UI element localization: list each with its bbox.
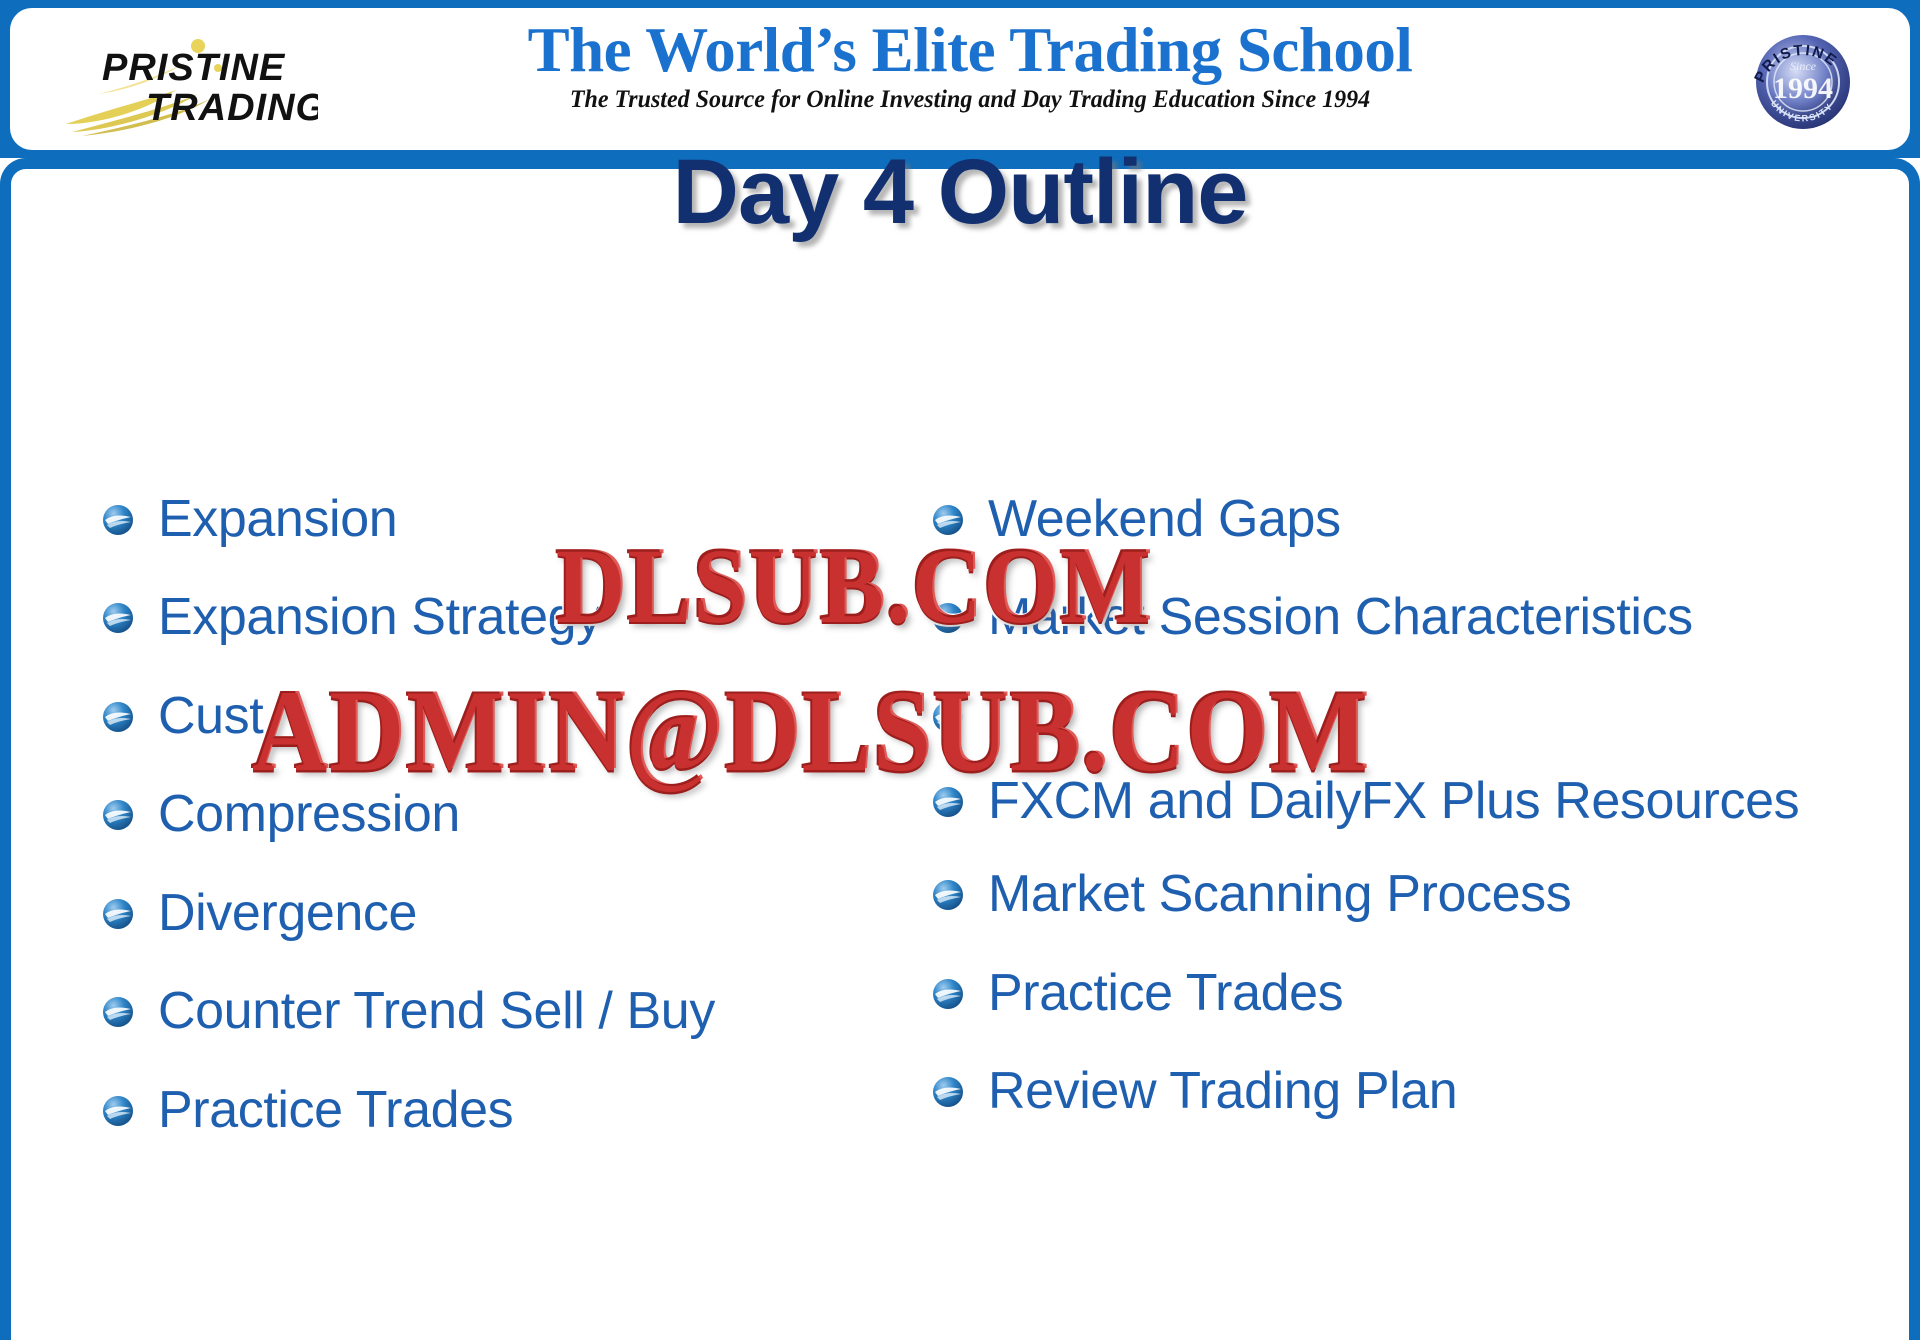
list-item[interactable]: Divergence bbox=[100, 882, 900, 945]
list-item-label: Divergence bbox=[158, 882, 417, 945]
list-item[interactable] bbox=[930, 685, 1920, 735]
globe-bullet-icon bbox=[930, 1074, 966, 1110]
list-item-label: Weekend Gaps bbox=[988, 488, 1341, 551]
list-item[interactable]: Compression bbox=[100, 783, 900, 846]
list-item-label: Review Trading Plan bbox=[988, 1060, 1457, 1123]
globe-bullet-icon bbox=[100, 600, 136, 636]
list-item[interactable]: Practice Trades bbox=[930, 962, 1920, 1025]
globe-bullet-icon bbox=[930, 502, 966, 538]
globe-bullet-icon bbox=[930, 699, 966, 735]
list-item[interactable]: Expansion bbox=[100, 488, 900, 551]
list-item[interactable]: Weekend Gaps bbox=[930, 488, 1920, 551]
outline-column-left: Expansion Expansion Strategy bbox=[0, 488, 900, 1177]
globe-bullet-icon bbox=[100, 502, 136, 538]
seal-since-text: Since bbox=[1790, 59, 1817, 73]
list-item[interactable]: Market Session Characteristics bbox=[930, 586, 1920, 649]
list-item-label: Market Session Characteristics bbox=[988, 586, 1693, 649]
header-inner: PRISTINE TRADING The World’s Elite Tradi… bbox=[10, 8, 1910, 150]
list-item-label: Compression bbox=[158, 783, 460, 846]
list-item[interactable]: Review Trading Plan bbox=[930, 1060, 1920, 1123]
globe-bullet-icon bbox=[930, 600, 966, 636]
logo-line-2: TRADING bbox=[146, 87, 318, 129]
globe-bullet-icon bbox=[100, 1093, 136, 1129]
pristine-university-seal: PRISTINE Since 1994 UNIVERSITY bbox=[1740, 18, 1866, 144]
globe-bullet-icon bbox=[930, 877, 966, 913]
list-item-label: Market Scanning Process bbox=[988, 863, 1571, 926]
list-item-label: Practice Trades bbox=[158, 1079, 513, 1142]
globe-bullet-icon bbox=[100, 699, 136, 735]
outline-columns: Expansion Expansion Strategy bbox=[0, 488, 1920, 1177]
globe-bullet-icon bbox=[100, 896, 136, 932]
seal-year: 1994 bbox=[1773, 72, 1833, 105]
globe-bullet-icon bbox=[930, 784, 966, 820]
list-item[interactable]: Counter Trend Sell / Buy bbox=[100, 980, 900, 1043]
globe-bullet-icon bbox=[930, 976, 966, 1012]
header-band: PRISTINE TRADING The World’s Elite Tradi… bbox=[0, 0, 1920, 158]
pristine-trading-logo: PRISTINE TRADING bbox=[58, 28, 318, 136]
page-title: Day 4 Outline bbox=[0, 140, 1920, 245]
list-item[interactable]: Practice Trades bbox=[100, 1079, 900, 1142]
outline-column-right: Weekend Gaps Market Session Characterist… bbox=[900, 488, 1920, 1159]
list-item[interactable]: FXCM and DailyFX Plus Resources bbox=[930, 770, 1920, 833]
list-item-label: Expansion Strategy bbox=[158, 586, 602, 649]
header-title: The World’s Elite Trading School bbox=[340, 18, 1600, 84]
header-subtitle: The Trusted Source for Online Investing … bbox=[365, 86, 1575, 114]
list-item[interactable]: Market Scanning Process bbox=[930, 863, 1920, 926]
list-item-label: FXCM and DailyFX Plus Resources bbox=[988, 770, 1799, 833]
list-item-label: Practice Trades bbox=[988, 962, 1343, 1025]
list-item-label: Cust bbox=[158, 685, 263, 748]
list-item-label: Counter Trend Sell / Buy bbox=[158, 980, 715, 1043]
list-item[interactable]: Cust bbox=[100, 685, 900, 748]
list-item-label: Expansion bbox=[158, 488, 397, 551]
slide-root: PRISTINE TRADING The World’s Elite Tradi… bbox=[0, 0, 1920, 1340]
globe-bullet-icon bbox=[100, 797, 136, 833]
logo-line-1: PRISTINE bbox=[102, 47, 286, 89]
list-item[interactable]: Expansion Strategy bbox=[100, 586, 900, 649]
header-title-block: The World’s Elite Trading School The Tru… bbox=[340, 18, 1600, 114]
globe-bullet-icon bbox=[100, 994, 136, 1030]
